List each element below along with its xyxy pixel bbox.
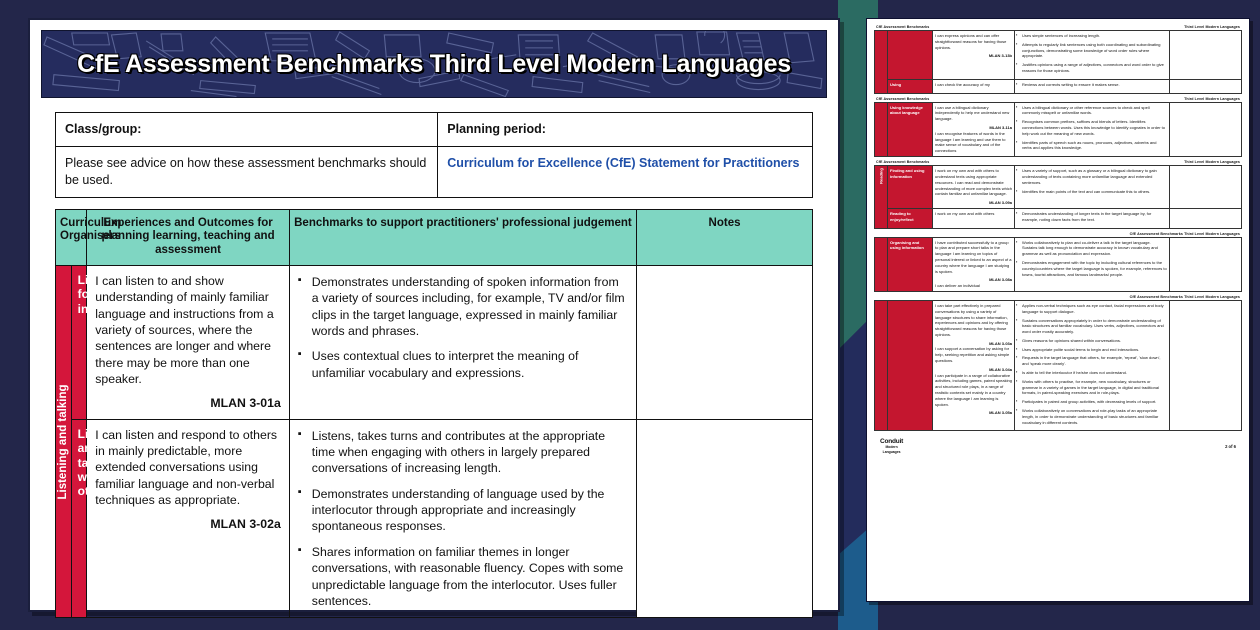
sub-organiser-listening-and-talking-with-others: Listening and talking with others [71,419,87,617]
practitioners-statement-cell: Curriculum for Excellence (CfE) Statemen… [438,146,813,197]
thumbnail-card: CfE Assessment Benchmarks Third Level Mo… [874,295,1242,432]
notes-cell[interactable] [1170,166,1242,209]
info-row-labels: Class/group: Planning period: [56,113,813,147]
thumbnail-header-right: CfE Assessment Benchmarks Third Level Mo… [1130,232,1240,236]
info-row-advice: Please see advice on how these assessmen… [56,146,813,197]
benchmarks-list: Demonstrates understanding of longer tex… [1016,211,1167,223]
experience-outcome-cell: I can use a bilingual dictionary indepen… [933,102,1015,157]
benchmark-item: Demonstrates understanding of language u… [296,486,627,535]
notes-cell[interactable] [1170,102,1242,157]
col-header-curriculum-organisers: Curriculum Organisers [56,209,87,265]
experience-text: I have contributed successfully to a gro… [935,240,1012,275]
table-row: UsingI can check the accuracy of myRevie… [875,79,1242,93]
benchmarks-cell: Uses simple sentences of increasing leng… [1015,31,1170,80]
benchmark-item: Uses a bilingual dictionary or other ref… [1016,105,1167,117]
thumbnail-header-left: CfE Assessment Benchmarks [876,25,929,29]
experience-outcome-cell: I work on my own and with others to unde… [933,166,1015,209]
notes-cell[interactable] [637,266,813,420]
benchmark-item: Reviews and corrects writing to ensure i… [1016,82,1167,88]
table-row: Reading to enjoy/reflectI work on my own… [875,208,1242,228]
benchmarks-cell: Demonstrates understanding of spoken inf… [289,266,636,420]
benchmark-item: Uses simple sentences of increasing leng… [1016,33,1167,39]
table-row: Listening and talking with others I can … [56,419,813,617]
benchmark-item: Demonstrates engagement with the topic b… [1016,260,1167,277]
benchmark-item: Recognises common prefixes, suffixes and… [1016,119,1167,136]
thumbnail-header-left: CfE Assessment Benchmarks [876,160,929,164]
benchmarks-list: Uses a bilingual dictionary or other ref… [1016,105,1167,152]
benchmarks-list: Applies non-verbal techniques such as ey… [1016,303,1167,426]
experience-text: I can listen to and show understanding o… [95,274,273,386]
notes-cell[interactable] [637,419,813,617]
experience-outcome-cell: I can listen and respond to others in ma… [87,419,290,617]
logo-subtitle: Modern Languages [880,445,903,454]
benchmarks-list: Reviews and corrects writing to ensure i… [1016,82,1167,88]
benchmarks-table: Curriculum Organisers Experiences and Ou… [55,209,813,619]
benchmarks-header-row: Curriculum Organisers Experiences and Ou… [56,209,813,265]
thumbnail-footer: Conduit Modern Languages 2 of 6 [874,434,1242,454]
page-banner: CfE Assessment Benchmarks Third Level Mo… [41,30,827,98]
thumbnail-benchmarks-table: I can express opinions and can offer str… [874,30,1242,94]
document-page-2-thumbnail[interactable]: CfE Assessment BenchmarksThird Level Mod… [866,18,1250,602]
planning-period-label: Planning period: [438,113,813,147]
thumbnail-header-right: CfE Assessment Benchmarks Third Level Mo… [1130,295,1240,299]
planning-info-table: Class/group: Planning period: Please see… [55,112,813,198]
organiser-cell [875,102,888,157]
experience-text: I can use a bilingual dictionary indepen… [935,105,1012,122]
thumbnail-header-right: Third Level Modern Languages [1184,97,1240,101]
benchmark-item: Attempts to regularly link sentences usi… [1016,42,1167,59]
benchmarks-list: Uses a variety of support, such as a glo… [1016,168,1167,194]
thumbnail-header-left: CfE Assessment Benchmarks [876,97,929,101]
thumbnail-header-right: Third Level Modern Languages [1184,160,1240,164]
benchmark-item: Works with others to practise, for examp… [1016,379,1167,396]
benchmarks-list: Demonstrates understanding of spoken inf… [296,274,627,381]
sub-organiser-cell: Finding and using information [888,166,933,209]
notes-cell[interactable] [1170,208,1242,228]
experience-code: MLAN 3-05a [935,410,1012,416]
experience-text: I can participate in a range of collabor… [935,373,1012,408]
experience-text: I can recognise features of words in the… [935,131,1012,154]
benchmark-item: Demonstrates understanding of spoken inf… [296,274,627,339]
benchmarks-cell: Reviews and corrects writing to ensure i… [1015,79,1170,93]
thumbnail-benchmarks-table: I can take part effectively in prepared … [874,300,1242,432]
benchmarks-list: Uses simple sentences of increasing leng… [1016,33,1167,74]
table-row: ReadingFinding and using informationI wo… [875,166,1242,209]
experience-code: MLAN 3-09a [935,200,1012,206]
table-row: Listening and talking Listening for info… [56,266,813,420]
thumbnail-card: CfE Assessment BenchmarksThird Level Mod… [874,97,1242,158]
experience-outcome-cell: I can express opinions and can offer str… [933,31,1015,80]
thumbnail-benchmarks-table: ReadingFinding and using informationI wo… [874,165,1242,228]
experience-text: I can express opinions and can offer str… [935,33,1012,50]
benchmark-item: Works collaboratively on conversations a… [1016,408,1167,425]
benchmark-item: Uses appropriate polite social terms to … [1016,347,1167,353]
table-row: Organising and using informationI have c… [875,237,1242,291]
experience-text: I can deliver an individual [935,283,1012,289]
organiser-cell: Reading [875,166,888,228]
benchmark-item: Justifies opinions using a range of adje… [1016,62,1167,74]
experience-text: I work on my own and with others to unde… [935,168,1012,197]
sub-organiser-cell [888,300,933,431]
advice-text: Please see advice on how these assessmen… [56,146,438,197]
organiser-label: Listening and talking [57,384,69,499]
benchmarks-list: Listens, takes turns and contributes at … [296,428,627,609]
cfe-statement-link[interactable]: Curriculum for Excellence (CfE) Statemen… [447,156,799,170]
organiser-label: Reading [879,168,884,184]
benchmarks-cell: Applies non-verbal techniques such as ey… [1015,300,1170,431]
notes-cell[interactable] [1170,300,1242,431]
sub-organiser-cell: Using [888,79,933,93]
experience-outcome-cell: I can listen to and show understanding o… [87,266,290,420]
col-header-benchmarks: Benchmarks to support practitioners' pro… [289,209,636,265]
benchmark-item: Sustains conversations appropriately in … [1016,318,1167,335]
benchmark-item: Identifies parts of speech such as nouns… [1016,140,1167,152]
benchmark-item: Uses a variety of support, such as a glo… [1016,168,1167,185]
conduit-logo: Conduit Modern Languages [880,438,903,454]
logo-subtitle-line2: Languages [880,450,903,454]
benchmark-item: Shares information on familiar themes in… [296,544,627,609]
benchmark-item: Works collaboratively to plan and co-del… [1016,240,1167,257]
thumbnail-card: CfE Assessment BenchmarksThird Level Mod… [874,160,1242,228]
sub-organiser-cell [888,31,933,80]
benchmark-item: Uses contextual clues to interpret the m… [296,348,627,381]
notes-cell[interactable] [1170,79,1242,93]
experience-text: I can take part effectively in prepared … [935,303,1012,338]
sub-organiser-cell: Organising and using information [888,237,933,291]
benchmark-item: Identifies the main points of the text a… [1016,189,1167,195]
page-title: CfE Assessment Benchmarks Third Level Mo… [77,50,791,79]
notes-cell[interactable] [1170,31,1242,80]
experience-code: MLAN 3-13b [935,53,1012,59]
benchmarks-list: Works collaboratively to plan and co-del… [1016,240,1167,278]
sub-organiser-cell: Reading to enjoy/reflect [888,208,933,228]
benchmarks-cell: Listens, takes turns and contributes at … [289,419,636,617]
experience-text: I can support a conversation by asking f… [935,346,1012,363]
benchmarks-cell: Works collaboratively to plan and co-del… [1015,237,1170,291]
benchmark-item: Is able to tell the interlocutor if he/s… [1016,370,1167,376]
benchmarks-cell: Uses a variety of support, such as a glo… [1015,166,1170,209]
experience-text: I can listen and respond to others in ma… [95,428,277,507]
page-number: 2 of 6 [1225,444,1236,449]
organiser-cell [875,300,888,431]
col-header-experiences-outcomes: Experiences and Outcomes for planning le… [87,209,290,265]
thumbnail-card: CfE Assessment BenchmarksThird Level Mod… [874,25,1242,94]
experience-outcome-cell: I can take part effectively in prepared … [933,300,1015,431]
table-row: Using knowledge about languageI can use … [875,102,1242,157]
thumbnail-card: CfE Assessment Benchmarks Third Level Mo… [874,232,1242,292]
benchmark-item: Gives reasons for opinions shared within… [1016,338,1167,344]
experience-code: MLAN 3-01a [95,395,281,411]
thumbnail-card-list: CfE Assessment BenchmarksThird Level Mod… [874,25,1242,431]
experience-outcome-cell: I can check the accuracy of my [933,79,1015,93]
sub-organiser-cell: Using knowledge about language [888,102,933,157]
benchmark-item: Listens, takes turns and contributes at … [296,428,627,477]
notes-cell[interactable] [1170,237,1242,291]
benchmarks-cell: Demonstrates understanding of longer tex… [1015,208,1170,228]
experience-outcome-cell: I work on my own and with others [933,208,1015,228]
organiser-cell-listening-and-talking: Listening and talking [56,266,72,618]
thumbnail-benchmarks-table: Organising and using informationI have c… [874,237,1242,292]
organiser-cell [875,237,888,291]
experience-text: I can check the accuracy of my [935,82,1012,88]
experience-outcome-cell: I have contributed successfully to a gro… [933,237,1015,291]
benchmark-item: Participates in paired and group activit… [1016,399,1167,405]
thumbnail-header-right: Third Level Modern Languages [1184,25,1240,29]
class-group-label: Class/group: [56,113,438,147]
experience-code: MLAN 3-02a [95,516,281,532]
table-row: I can take part effectively in prepared … [875,300,1242,431]
document-page-1[interactable]: CfE Assessment Benchmarks Third Level Mo… [28,18,840,612]
benchmarks-cell: Uses a bilingual dictionary or other ref… [1015,102,1170,157]
sub-organiser-listening-for-information: Listening for information [71,266,87,420]
organiser-cell [875,31,888,94]
experience-text: I work on my own and with others [935,211,1012,217]
table-row: I can express opinions and can offer str… [875,31,1242,80]
benchmark-item: Demonstrates understanding of longer tex… [1016,211,1167,223]
benchmark-item: Applies non-verbal techniques such as ey… [1016,303,1167,315]
logo-wordmark: Conduit [880,438,903,445]
screenshot-stage: CfE Assessment Benchmarks Third Level Mo… [0,0,1260,630]
col-header-notes: Notes [637,209,813,265]
benchmark-item: Requests in the target language that oth… [1016,355,1167,367]
thumbnail-benchmarks-table: Using knowledge about languageI can use … [874,102,1242,158]
